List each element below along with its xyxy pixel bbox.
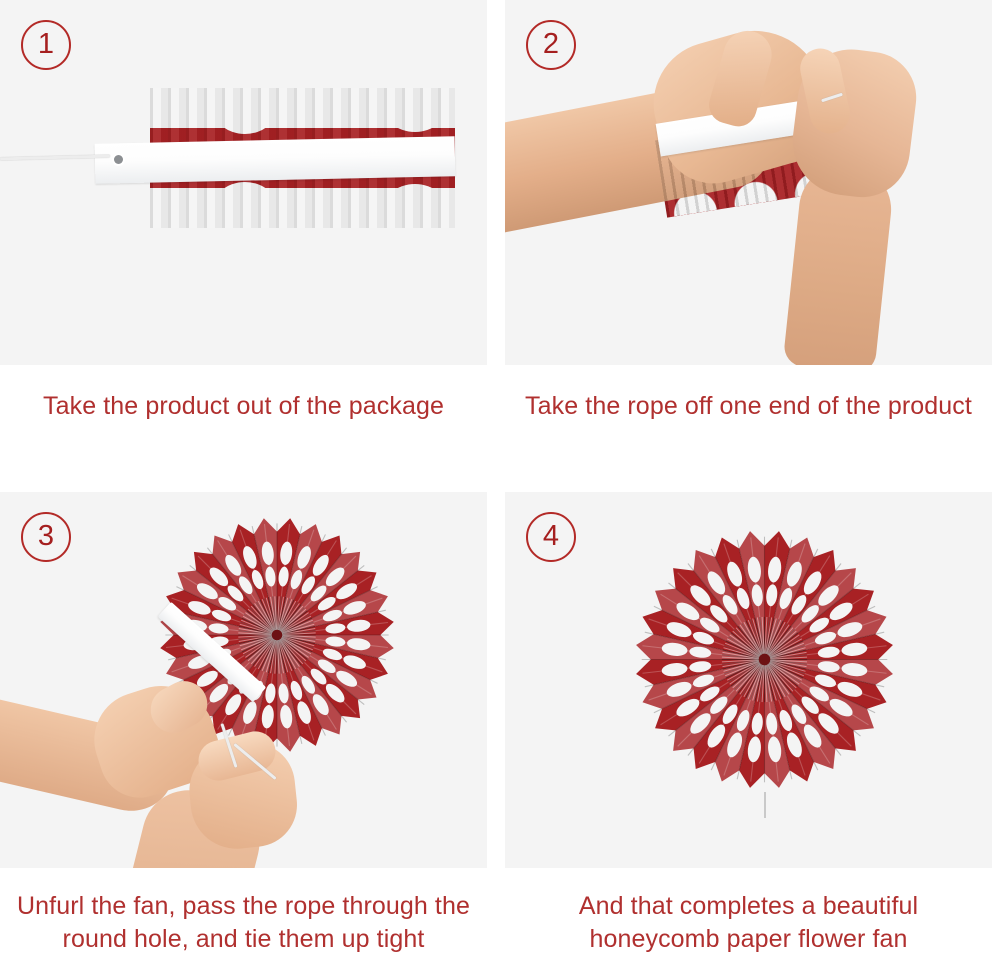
folded-fan-group bbox=[95, 88, 455, 228]
step-panel-2: 2 Take the rope off one end of the produ… bbox=[505, 0, 992, 423]
finished-honeycomb-fan bbox=[627, 522, 902, 797]
white-rope bbox=[0, 155, 110, 161]
step-panel-3: 3 Unfurl the fan, pass the rope through … bbox=[0, 492, 487, 956]
step-3-caption: Unfurl the fan, pass the rope through th… bbox=[0, 868, 487, 956]
step-4-caption: And that completes a beautifulhoneycomb … bbox=[505, 868, 992, 956]
scallop-edge-top bbox=[150, 88, 455, 128]
step-panel-4: 4 And that completes a beautifulhoneycom… bbox=[505, 492, 992, 956]
step-4-photo: 4 bbox=[505, 492, 992, 868]
step-number-badge-4: 4 bbox=[526, 512, 576, 562]
step-2-photo: 2 bbox=[505, 0, 992, 365]
step-1-photo: 1 bbox=[0, 0, 487, 365]
step-number-2: 2 bbox=[543, 30, 559, 59]
metal-eyelet bbox=[114, 155, 123, 164]
step-number-1: 1 bbox=[38, 30, 54, 59]
scene-tying-rope bbox=[0, 492, 487, 868]
step-3-photo: 3 bbox=[0, 492, 487, 868]
scene-folded-fan bbox=[0, 0, 487, 365]
scene-removing-rope bbox=[505, 0, 992, 365]
step-2-caption: Take the rope off one end of the product bbox=[505, 365, 992, 423]
instruction-sheet: 1 bbox=[0, 0, 1000, 956]
step-number-4: 4 bbox=[543, 522, 559, 551]
step-number-badge-3: 3 bbox=[21, 512, 71, 562]
white-cardboard-strip bbox=[95, 136, 456, 184]
step-panel-1: 1 bbox=[0, 0, 487, 423]
scene-finished-fan bbox=[505, 492, 992, 868]
scallop-edge-bottom bbox=[150, 188, 455, 228]
step-number-badge-2: 2 bbox=[526, 20, 576, 70]
step-1-caption: Take the product out of the package bbox=[0, 365, 487, 423]
step-number-3: 3 bbox=[38, 522, 54, 551]
step-number-badge-1: 1 bbox=[21, 20, 71, 70]
